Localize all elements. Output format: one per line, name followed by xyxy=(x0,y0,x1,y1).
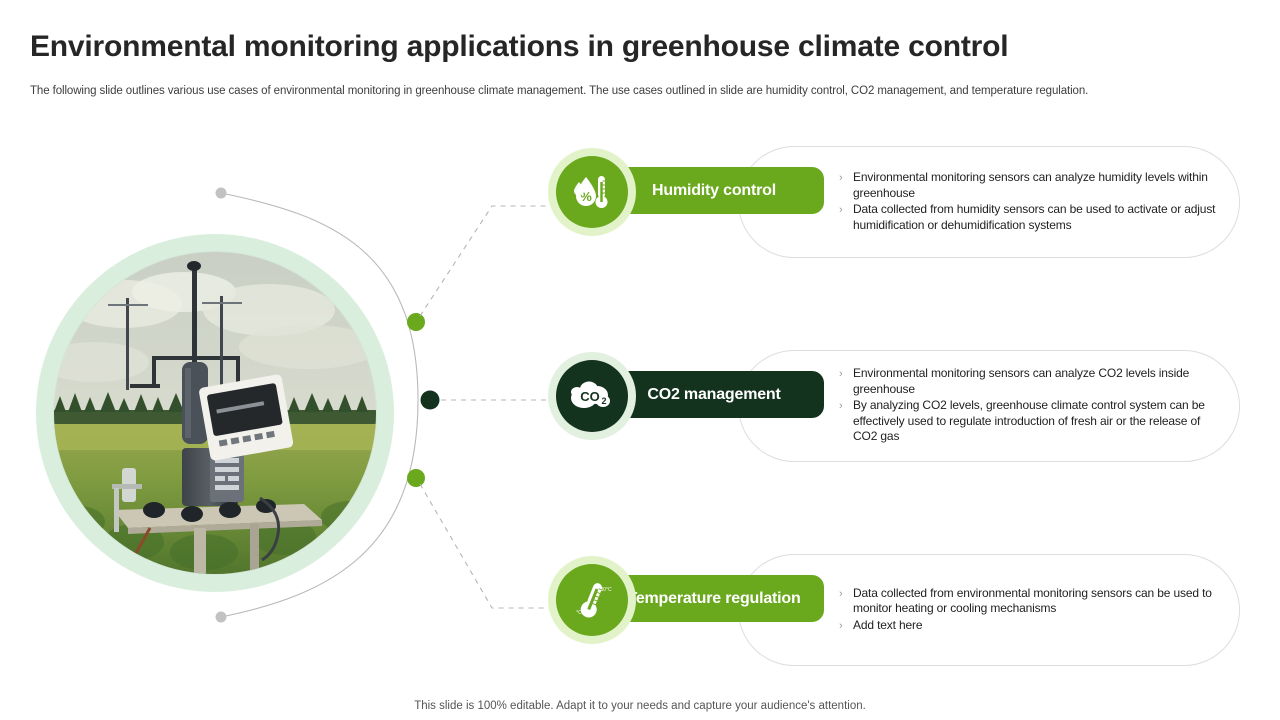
bullet-list-humidity-control: › Environmental monitoring sensors can a… xyxy=(839,170,1219,234)
arc-end-dot-top xyxy=(216,188,227,199)
chevron-right-icon: › xyxy=(839,202,853,218)
bullet-text: Data collected from humidity sensors can… xyxy=(853,202,1219,233)
icon-badge-co2-management[interactable]: CO 2 xyxy=(548,352,636,440)
list-item: › Data collected from humidity sensors c… xyxy=(839,202,1219,233)
label-pill-humidity-control[interactable]: Humidity control xyxy=(604,167,824,214)
monitoring-station-photo xyxy=(54,252,376,574)
list-item: › Environmental monitoring sensors can a… xyxy=(839,170,1219,201)
chevron-right-icon: › xyxy=(839,618,853,634)
svg-text:30°C: 30°C xyxy=(600,587,612,593)
arc-end-dot-bottom xyxy=(216,612,227,623)
page-subtitle: The following slide outlines various use… xyxy=(30,85,1088,97)
thermometer-icon: 30°C °C xyxy=(570,578,614,622)
bullet-list-temperature-regulation: › Data collected from environmental moni… xyxy=(839,586,1219,635)
node-dot-co2 xyxy=(421,391,440,410)
photo-illustration xyxy=(54,252,376,574)
co2-cloud-icon: CO 2 xyxy=(569,376,615,416)
list-item: › Add text here xyxy=(839,618,1219,634)
icon-badge-temperature-regulation[interactable]: 30°C °C xyxy=(548,556,636,644)
bullet-text: Environmental monitoring sensors can ana… xyxy=(853,170,1219,201)
icon-badge-humidity-control[interactable]: % xyxy=(548,148,636,236)
humidity-droplet-thermometer-icon: % xyxy=(570,170,614,214)
svg-text:2: 2 xyxy=(601,396,606,406)
svg-text:CO: CO xyxy=(580,389,600,404)
connector-humidity xyxy=(420,206,556,316)
icon-badge-inner: CO 2 xyxy=(556,360,628,432)
bullet-text: Add text here xyxy=(853,618,922,634)
page-title: Environmental monitoring applications in… xyxy=(30,30,1008,64)
connector-temperature xyxy=(420,484,556,608)
icon-badge-inner: 30°C °C xyxy=(556,564,628,636)
icon-badge-inner: % xyxy=(556,156,628,228)
list-item: › By analyzing CO2 levels, greenhouse cl… xyxy=(839,398,1219,445)
slide: Environmental monitoring applications in… xyxy=(0,0,1280,720)
chevron-right-icon: › xyxy=(839,398,853,414)
bullet-text: By analyzing CO2 levels, greenhouse clim… xyxy=(853,398,1219,445)
list-item: › Data collected from environmental moni… xyxy=(839,586,1219,617)
photo-ring xyxy=(36,234,394,592)
label-pill-temperature-regulation[interactable]: Temperature regulation xyxy=(604,575,824,622)
bullet-text: Data collected from environmental monito… xyxy=(853,586,1219,617)
chevron-right-icon: › xyxy=(839,170,853,186)
label-pill-co2-management[interactable]: CO2 management xyxy=(604,371,824,418)
svg-text:°C: °C xyxy=(576,610,582,616)
bullet-list-co2-management: › Environmental monitoring sensors can a… xyxy=(839,366,1219,446)
chevron-right-icon: › xyxy=(839,366,853,382)
bullet-text: Environmental monitoring sensors can ana… xyxy=(853,366,1219,397)
list-item: › Environmental monitoring sensors can a… xyxy=(839,366,1219,397)
footer-note: This slide is 100% editable. Adapt it to… xyxy=(0,700,1280,712)
node-dot-temperature xyxy=(407,469,425,487)
chevron-right-icon: › xyxy=(839,586,853,602)
node-dot-humidity xyxy=(407,313,425,331)
